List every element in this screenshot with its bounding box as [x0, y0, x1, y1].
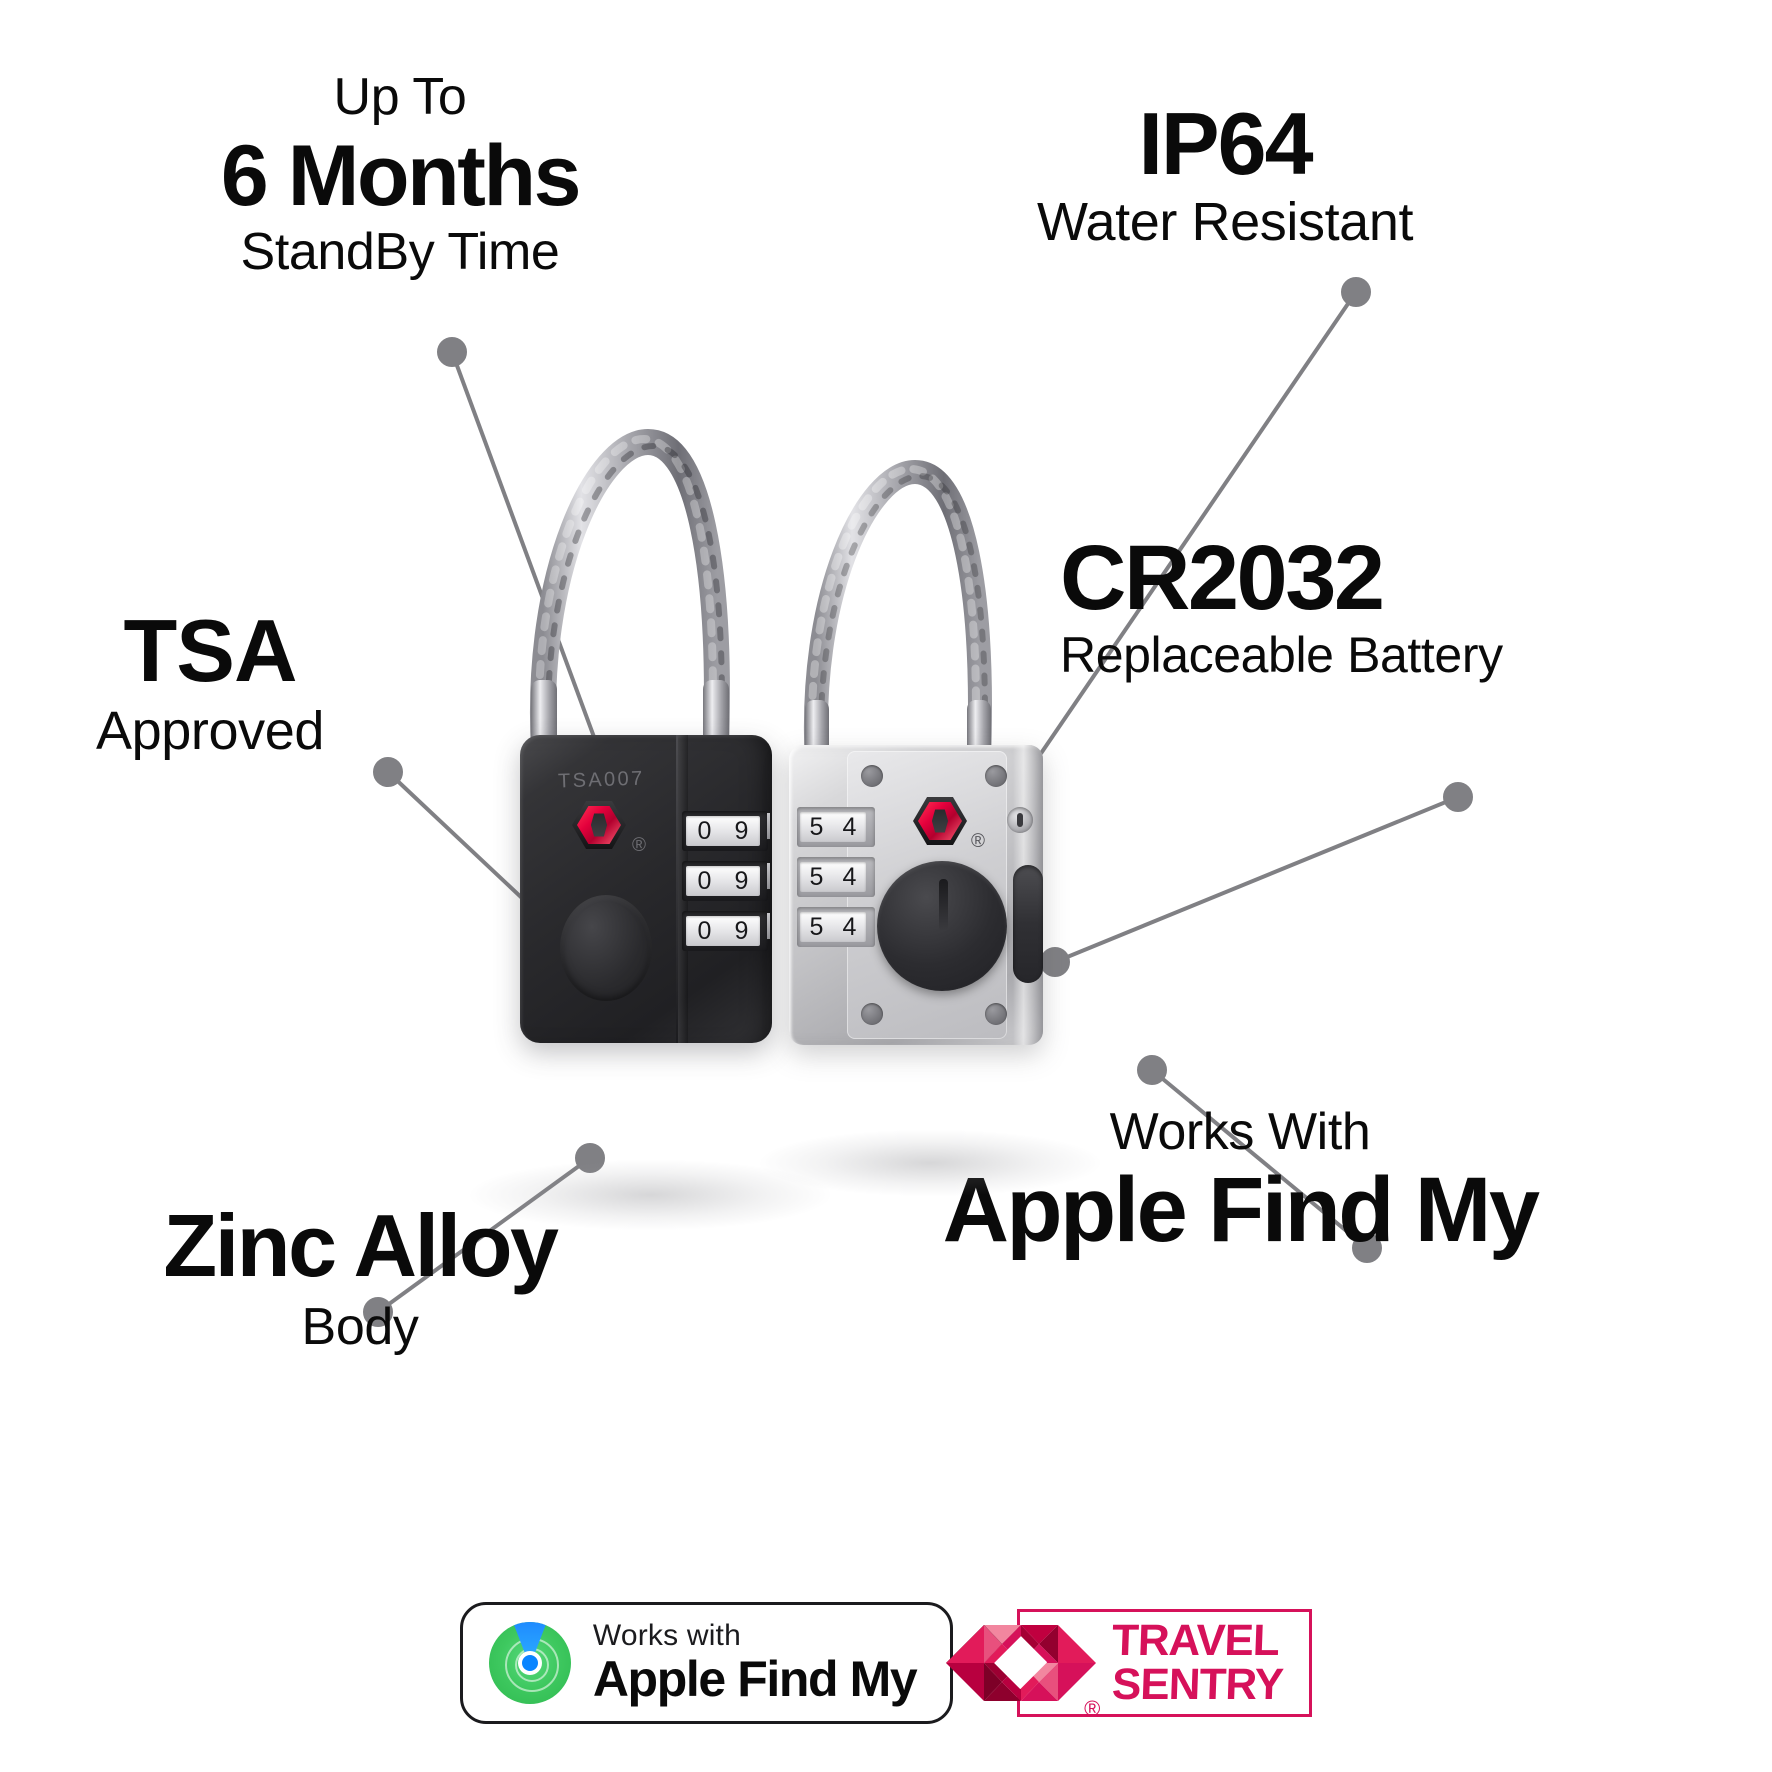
callout-standby-sub: StandBy Time [205, 225, 595, 280]
dial-row[interactable]: 5 4 [797, 857, 875, 897]
dial-row[interactable]: 0 9 [682, 811, 768, 851]
screw-icon [985, 1003, 1007, 1025]
black-lock-dial-stack: 0 9 0 9 0 9 [682, 811, 768, 961]
travel-sentry-line2: SENTRY [1112, 1664, 1284, 1706]
callout-tsa-sub: Approved [60, 703, 360, 760]
dial-digit: 0 [686, 916, 723, 946]
registered-mark-black: ® [632, 835, 646, 857]
keyhole-icon[interactable] [1007, 807, 1033, 833]
screw-icon [861, 765, 883, 787]
callout-standby-title: 6 Months [205, 131, 595, 221]
find-my-badge-line1: Works with [593, 1621, 916, 1652]
screw-icon [861, 1003, 883, 1025]
dial-digit: 4 [833, 912, 866, 942]
travel-sentry-registered-mark: ® [1084, 1696, 1100, 1722]
callout-standby-small: Up To [205, 70, 595, 125]
travel-sentry-gem-icon [572, 801, 626, 849]
find-my-badge-line2: Apple Find My [593, 1654, 916, 1705]
callout-standby: Up To 6 Months StandBy Time [205, 70, 595, 279]
silver-lock-dial-stack: 5 4 5 4 5 4 [797, 807, 875, 957]
silver-padlock: ® 5 4 5 4 [775, 420, 1057, 1080]
dial-digit: 0 [686, 816, 723, 846]
travel-sentry-gem-icon [913, 797, 967, 845]
callout-battery-sub: Replaceable Battery [1060, 629, 1580, 682]
black-lock-body: TSA007 ® 0 9 0 9 [520, 735, 772, 1043]
tsa007-marking: TSA007 [558, 767, 645, 793]
silver-lock-shadow [760, 1130, 1100, 1196]
dial-digit: 9 [723, 816, 760, 846]
callout-tsa-title: TSA [60, 605, 360, 697]
certification-badges: Works with Apple Find My [0, 1588, 1772, 1738]
black-padlock: TSA007 ® 0 9 0 9 [498, 380, 788, 1080]
travel-sentry-badge: ® TRAVEL SENTRY [1017, 1609, 1312, 1717]
dial-row[interactable]: 0 9 [682, 911, 768, 951]
dial-row[interactable]: 0 9 [682, 861, 768, 901]
dial-digit: 0 [686, 866, 723, 896]
silver-lock-rotary-knob[interactable] [877, 861, 1007, 991]
dial-digit: 5 [800, 862, 833, 892]
black-lock-thumb-pad [560, 895, 652, 1001]
travel-sentry-diamond-icon: ® [946, 1598, 1096, 1728]
dial-digit: 4 [833, 812, 866, 842]
dial-digit: 5 [800, 912, 833, 942]
find-my-radar-icon [489, 1622, 571, 1704]
silver-lock-body: ® 5 4 5 4 [789, 745, 1043, 1045]
dial-digit: 9 [723, 866, 760, 896]
callout-zinc-sub: Body [130, 1300, 590, 1355]
silver-lock-side-button[interactable] [1013, 865, 1043, 983]
screw-icon [985, 765, 1007, 787]
callout-ip64-sub: Water Resistant [1025, 194, 1425, 251]
dial-row[interactable]: 5 4 [797, 907, 875, 947]
travel-sentry-line1: TRAVEL [1112, 1620, 1284, 1662]
callout-battery-title: CR2032 [1060, 530, 1580, 627]
callout-tsa: TSA Approved [60, 605, 360, 760]
dial-digit: 4 [833, 862, 866, 892]
registered-mark-silver: ® [971, 831, 985, 853]
callout-zinc-alloy: Zinc Alloy Body [130, 1200, 590, 1355]
dial-digit: 9 [723, 916, 760, 946]
dial-row[interactable]: 5 4 [797, 807, 875, 847]
callout-battery: CR2032 Replaceable Battery [1060, 530, 1580, 681]
callout-ip64-title: IP64 [1025, 98, 1425, 190]
dial-digit: 5 [800, 812, 833, 842]
infographic-canvas: Up To 6 Months StandBy Time IP64 Water R… [0, 0, 1772, 1772]
works-with-apple-find-my-badge: Works with Apple Find My [460, 1602, 953, 1724]
callout-ip64: IP64 Water Resistant [1025, 98, 1425, 251]
